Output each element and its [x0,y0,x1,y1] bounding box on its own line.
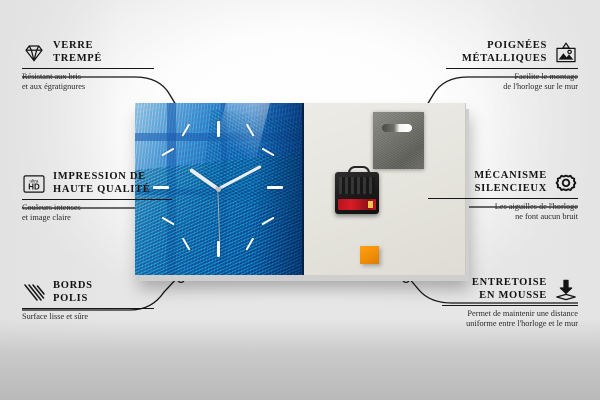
callout-divider [428,198,578,199]
polished-edges-icon [22,281,46,305]
callout-desc-line-2: uniforme entre l'horloge et le mur [442,319,578,329]
callout-title: MÉCANISME SILENCIEUX [474,170,547,195]
clock-tick-3 [267,186,283,189]
callout-divider [22,308,154,309]
mechanism-handle [348,166,370,177]
mechanism-grill [339,177,375,194]
callout-desc-line-1: Facilite le montage [446,72,578,82]
silent-clock-mechanism [335,172,379,214]
callout-impression-haute-qualite[interactable]: ultra HD IMPRESSION DE HAUTE QUALITÉ Cou… [22,171,172,223]
callout-verre-trempe[interactable]: VERRE TREMPÉ Résistant aux bris et aux é… [22,40,154,92]
callout-divider [442,305,578,306]
diamond-icon [22,41,46,65]
picture-frame-hook-icon [554,41,578,65]
callout-divider [22,68,154,69]
hanger-slot [382,124,412,132]
clock-tick-6 [217,241,220,257]
callout-title: POIGNÉES MÉTALLIQUES [462,40,547,65]
callout-header: BORDS POLIS [22,280,154,305]
callout-desc-line-2: de l'horloge sur le mur [446,82,578,92]
callout-header: MÉCANISME SILENCIEUX [428,170,578,195]
callout-header: ultra HD IMPRESSION DE HAUTE QUALITÉ [22,171,172,196]
callout-desc-line-2: et aux égratignures [22,82,154,92]
callout-header: ENTRETOISE EN MOUSSE [442,277,578,302]
background-floor-gradient [0,318,600,400]
clock-tick-12 [217,121,220,137]
ultra-hd-icon-bottom-text: HD [28,182,40,191]
product-image-wall-clock [135,103,465,275]
callout-title: BORDS POLIS [53,280,93,305]
callout-title: VERRE TREMPÉ [53,40,102,65]
clock-center-pin [216,187,221,192]
callout-divider [446,68,578,69]
callout-desc-line-1: Permet de maintenir une distance [442,309,578,319]
callout-poignees-metalliques[interactable]: POIGNÉES MÉTALLIQUES Facilite le montage… [446,40,578,92]
callout-title: ENTRETOISE EN MOUSSE [472,277,547,302]
foam-spacer [360,246,379,264]
callout-bords-polis[interactable]: BORDS POLIS Surface lisse et sûre [22,280,154,322]
ultra-hd-icon: ultra HD [22,172,46,196]
callout-desc-line-2: et image claire [22,213,172,223]
callout-desc-line-1: Couleurs intenses [22,203,172,213]
callout-divider [22,199,172,200]
callout-header: POIGNÉES MÉTALLIQUES [446,40,578,65]
gear-icon [554,171,578,195]
callout-desc-line-1: Résistant aux bris [22,72,154,82]
callout-entretoise-en-mousse[interactable]: ENTRETOISE EN MOUSSE Permet de maintenir… [442,277,578,329]
callout-desc-line-1: Les aiguilles de l'horloge [428,202,578,212]
callout-desc-line-2: ne font aucun bruit [428,212,578,222]
callout-desc-line-1: Surface lisse et sûre [22,312,154,322]
infographic-canvas: VERRE TREMPÉ Résistant aux bris et aux é… [0,0,600,400]
metal-hanger-plate [373,112,424,169]
callout-header: VERRE TREMPÉ [22,40,154,65]
foam-spacer-arrow-icon [554,278,578,302]
battery-label [338,199,376,210]
callout-mecanisme-silencieux[interactable]: MÉCANISME SILENCIEUX Les aiguilles de l'… [428,170,578,222]
callout-title: IMPRESSION DE HAUTE QUALITÉ [53,171,151,196]
